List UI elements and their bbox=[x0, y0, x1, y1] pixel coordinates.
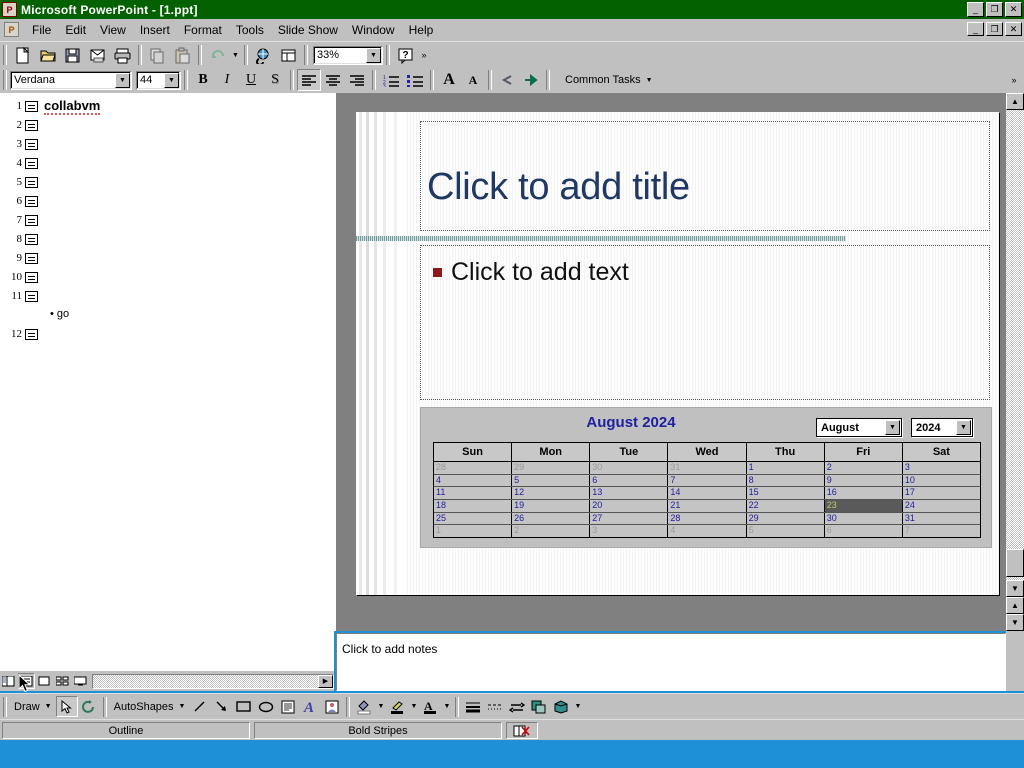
close-button[interactable]: ✕ bbox=[1005, 2, 1022, 17]
outline-slide-number: 8 bbox=[2, 233, 22, 245]
toolbar-separator bbox=[488, 70, 492, 90]
print-icon[interactable] bbox=[111, 44, 134, 66]
calendar-week-row: 18192021222324 bbox=[434, 500, 980, 513]
calendar-selected-day-cell[interactable]: 23 bbox=[825, 500, 903, 512]
previous-slide-button[interactable]: ▲ bbox=[1006, 597, 1024, 614]
toolbar-grip bbox=[3, 70, 7, 90]
title-underline-rule bbox=[356, 236, 846, 241]
application-title-bar: P Microsoft PowerPoint - [1.ppt] _ ❐ ✕ bbox=[0, 0, 1024, 19]
shadow-icon[interactable] bbox=[528, 696, 550, 717]
svg-text:A: A bbox=[424, 699, 433, 713]
document-icon[interactable]: P bbox=[4, 22, 19, 37]
window-controls: _ ❐ ✕ bbox=[967, 2, 1022, 17]
calendar-day-cell[interactable]: 1 bbox=[434, 525, 512, 537]
calendar-grid[interactable]: SunMonTueWedThuFriSat 282930311234567891… bbox=[433, 442, 981, 538]
title-placeholder[interactable]: Click to add title bbox=[420, 121, 990, 231]
outline-bullet-glyph: • bbox=[50, 308, 57, 320]
menu-edit[interactable]: Edit bbox=[58, 21, 93, 39]
svg-text:?: ? bbox=[402, 50, 408, 61]
calendar-day-cell[interactable]: 6 bbox=[825, 525, 903, 537]
calendar-day-cell[interactable]: 25 bbox=[434, 513, 512, 525]
outline-bullet-text: go bbox=[57, 308, 69, 320]
calendar-day-cell[interactable]: 7 bbox=[903, 525, 980, 537]
slide-thumbnail-icon[interactable] bbox=[25, 329, 38, 340]
insert-table-icon[interactable] bbox=[277, 44, 300, 66]
calendar-day-cell[interactable]: 13 bbox=[590, 487, 668, 499]
outline-slide-number: 10 bbox=[2, 271, 22, 283]
italic-button[interactable]: I bbox=[215, 69, 239, 91]
calendar-day-cell[interactable]: 2 bbox=[825, 462, 903, 474]
outline-horizontal-scrollbar[interactable]: ▶ bbox=[92, 674, 334, 689]
text-box-icon[interactable] bbox=[277, 696, 299, 717]
scroll-down-button[interactable]: ▼ bbox=[1006, 580, 1024, 597]
outline-slide-row[interactable]: 11 bbox=[2, 288, 38, 304]
outline-slide-row[interactable]: 2 bbox=[2, 117, 38, 133]
title-placeholder-text: Click to add title bbox=[427, 166, 690, 209]
slide-pane[interactable]: Click to add title Click to add text Aug… bbox=[334, 93, 1008, 631]
font-color-dropdown-icon[interactable]: ▼ bbox=[441, 696, 452, 718]
calendar-weekday-header: SunMonTueWedThuFriSat bbox=[434, 443, 980, 462]
desktop-background bbox=[0, 740, 1024, 768]
calendar-day-cell[interactable]: 2 bbox=[512, 525, 590, 537]
toolbar-separator bbox=[138, 45, 142, 65]
calendar-day-cell[interactable]: 9 bbox=[825, 475, 903, 487]
insert-hyperlink-icon[interactable] bbox=[252, 44, 275, 66]
maximize-button[interactable]: ❐ bbox=[986, 2, 1003, 17]
toolbar-separator bbox=[304, 45, 308, 65]
spelling-status-icon[interactable] bbox=[506, 722, 538, 739]
calendar-month-value: August bbox=[821, 422, 859, 434]
slide-thumbnail-icon[interactable] bbox=[25, 215, 38, 226]
scrollbar-thumb[interactable] bbox=[1006, 549, 1024, 577]
calendar-day-cell[interactable]: 28 bbox=[434, 462, 512, 474]
calendar-day-cell[interactable]: 31 bbox=[903, 513, 980, 525]
toolbar-separator bbox=[184, 70, 188, 90]
shadow-button[interactable]: S bbox=[263, 69, 287, 91]
calendar-day-cell[interactable]: 26 bbox=[512, 513, 590, 525]
zoom-value: 33% bbox=[317, 49, 339, 61]
align-center-icon[interactable] bbox=[321, 69, 345, 91]
drawing-toolbar: Draw ▼ AutoShapes ▼ A bbox=[0, 693, 1024, 719]
calendar-year-value: 2024 bbox=[916, 422, 940, 434]
document-close-button[interactable]: ✕ bbox=[1005, 22, 1022, 36]
font-color-icon[interactable]: A bbox=[419, 696, 441, 717]
calendar-week-row: 1234567 bbox=[434, 525, 980, 537]
font-size-dropdown-icon[interactable]: ▼ bbox=[164, 73, 179, 88]
slide-thumbnail-icon[interactable] bbox=[25, 120, 38, 131]
toolbar-grip bbox=[3, 45, 7, 65]
calendar-week-row: 28293031123 bbox=[434, 462, 980, 475]
outline-slide-row[interactable]: 1collabvm bbox=[2, 98, 100, 114]
calendar-day-cell[interactable]: 15 bbox=[747, 487, 825, 499]
calendar-day-cell[interactable]: 7 bbox=[668, 475, 746, 487]
calendar-day-cell[interactable]: 5 bbox=[747, 525, 825, 537]
outline-slide-row[interactable]: 3 bbox=[2, 136, 38, 152]
outline-slide-row[interactable]: 5 bbox=[2, 174, 38, 190]
autoshapes-button[interactable]: AutoShapes ▼ bbox=[110, 701, 190, 713]
calendar-weekday-cell: Tue bbox=[590, 443, 668, 461]
slide-show-button[interactable] bbox=[72, 673, 89, 689]
slide-thumbnail-icon[interactable] bbox=[25, 177, 38, 188]
mouse-cursor bbox=[18, 674, 32, 694]
outline-slide-number: 4 bbox=[2, 157, 22, 169]
undo-dropdown-icon[interactable]: ▼ bbox=[230, 44, 241, 66]
normal-view-button[interactable] bbox=[0, 673, 17, 689]
calendar-weekday-cell: Fri bbox=[825, 443, 903, 461]
copy-icon[interactable] bbox=[146, 44, 169, 66]
numbered-list-icon[interactable]: 123 bbox=[379, 69, 403, 91]
menu-bar: P File Edit View Insert Format Tools Sli… bbox=[0, 19, 1024, 41]
window-title: Microsoft PowerPoint - [1.ppt] bbox=[21, 3, 198, 17]
help-icon[interactable]: ? bbox=[394, 44, 417, 66]
outline-slide-number: 5 bbox=[2, 176, 22, 188]
calendar-week-row: 11121314151617 bbox=[434, 487, 980, 500]
outline-slide-number: 12 bbox=[2, 328, 22, 340]
draw-button[interactable]: Draw ▼ bbox=[10, 701, 56, 713]
calendar-day-cell[interactable]: 30 bbox=[825, 513, 903, 525]
calendar-weekday-cell: Wed bbox=[668, 443, 746, 461]
toolbar-separator bbox=[546, 70, 550, 90]
calendar-day-cell[interactable]: 27 bbox=[590, 513, 668, 525]
undo-icon[interactable] bbox=[206, 44, 229, 66]
calendar-weekday-cell: Sun bbox=[434, 443, 512, 461]
calendar-day-cell[interactable]: 18 bbox=[434, 500, 512, 512]
calendar-day-cell[interactable]: 21 bbox=[668, 500, 746, 512]
calendar-weekday-cell: Thu bbox=[747, 443, 825, 461]
powerpoint-icon: P bbox=[2, 2, 17, 17]
menu-insert[interactable]: Insert bbox=[133, 21, 177, 39]
calendar-day-cell[interactable]: 11 bbox=[434, 487, 512, 499]
line-color-dropdown-icon[interactable]: ▼ bbox=[408, 696, 419, 718]
line-icon[interactable] bbox=[189, 696, 211, 717]
calendar-day-cell[interactable]: 29 bbox=[512, 462, 590, 474]
outline-slide-number: 7 bbox=[2, 214, 22, 226]
slide-thumbnail-icon[interactable] bbox=[25, 196, 38, 207]
outline-slide-row[interactable]: 4 bbox=[2, 155, 38, 171]
outline-slide-number: 6 bbox=[2, 195, 22, 207]
overflow-glyph: » bbox=[421, 52, 426, 59]
calendar-year-dropdown-icon[interactable]: ▼ bbox=[956, 420, 971, 435]
body-placeholder-text: Click to add text bbox=[451, 258, 629, 287]
calendar-day-cell[interactable]: 29 bbox=[747, 513, 825, 525]
outline-pane-bottom-bar: ▶ bbox=[0, 671, 334, 691]
common-tasks-button[interactable]: Common Tasks ▼ bbox=[561, 72, 657, 88]
menu-file[interactable]: File bbox=[25, 21, 58, 39]
notes-placeholder-text: Click to add notes bbox=[342, 642, 437, 656]
common-tasks-dropdown-icon[interactable]: ▼ bbox=[646, 77, 653, 84]
bulleted-list-icon[interactable] bbox=[403, 69, 427, 91]
toolbar-separator bbox=[346, 697, 350, 717]
paste-icon[interactable] bbox=[171, 44, 194, 66]
toolbar-separator bbox=[244, 45, 248, 65]
slide-thumbnail-icon[interactable] bbox=[25, 139, 38, 150]
slide-thumbnail-icon[interactable] bbox=[25, 101, 38, 112]
menu-tools[interactable]: Tools bbox=[229, 21, 271, 39]
svg-text:3: 3 bbox=[383, 84, 386, 87]
oval-icon[interactable] bbox=[255, 696, 277, 717]
calendar-day-cell[interactable]: 22 bbox=[747, 500, 825, 512]
save-icon[interactable] bbox=[61, 44, 84, 66]
outline-slide-row[interactable]: 8 bbox=[2, 231, 38, 247]
calendar-weekday-cell: Mon bbox=[512, 443, 590, 461]
calendar-day-cell[interactable]: 30 bbox=[590, 462, 668, 474]
calendar-year-combo[interactable]: 2024 ▼ bbox=[911, 418, 973, 437]
line-color-icon[interactable] bbox=[386, 696, 408, 717]
slide-thumbnail-icon[interactable] bbox=[25, 291, 38, 302]
outline-slide-number: 1 bbox=[2, 100, 22, 112]
slide-view-button[interactable] bbox=[36, 673, 53, 689]
body-placeholder[interactable]: Click to add text bbox=[420, 245, 990, 400]
zoom-dropdown-icon[interactable]: ▼ bbox=[366, 48, 381, 63]
calendar-day-cell[interactable]: 5 bbox=[512, 475, 590, 487]
calendar-day-cell[interactable]: 1 bbox=[747, 462, 825, 474]
calendar-week-row: 45678910 bbox=[434, 475, 980, 488]
toolbar-separator bbox=[386, 45, 390, 65]
new-icon[interactable] bbox=[11, 44, 34, 66]
select-arrow-icon[interactable] bbox=[56, 696, 78, 717]
calendar-day-cell[interactable]: 31 bbox=[668, 462, 746, 474]
outline-slide-row[interactable]: 10 bbox=[2, 269, 38, 285]
formatting-toolbar-overflow-icon[interactable]: » bbox=[1008, 69, 1020, 91]
notes-scroll-area[interactable] bbox=[1006, 631, 1024, 691]
calendar-day-cell[interactable]: 8 bbox=[747, 475, 825, 487]
3d-icon[interactable] bbox=[550, 696, 572, 717]
next-slide-button[interactable]: ▼ bbox=[1006, 614, 1024, 631]
autoshapes-label: AutoShapes bbox=[114, 701, 174, 713]
outline-slide-number: 3 bbox=[2, 138, 22, 150]
scroll-up-button[interactable]: ▲ bbox=[1006, 93, 1024, 110]
calendar-week-row: 25262728293031 bbox=[434, 513, 980, 526]
slide-vertical-scrollbar[interactable]: ▲ ▼ ▲ ▼ bbox=[1006, 93, 1024, 631]
menu-slide-show[interactable]: Slide Show bbox=[271, 21, 345, 39]
calendar-day-cell[interactable]: 6 bbox=[590, 475, 668, 487]
powerpoint-window: P Microsoft PowerPoint - [1.ppt] _ ❐ ✕ P… bbox=[0, 0, 1024, 768]
font-name-value: Verdana bbox=[14, 74, 55, 86]
wordart-icon[interactable]: A bbox=[299, 696, 321, 717]
demote-icon[interactable] bbox=[519, 69, 543, 91]
calendar-day-cell[interactable]: 17 bbox=[903, 487, 980, 499]
menu-window[interactable]: Window bbox=[345, 21, 402, 39]
calendar-day-cell[interactable]: 12 bbox=[512, 487, 590, 499]
fill-color-icon[interactable] bbox=[353, 696, 375, 717]
calendar-day-cell[interactable]: 4 bbox=[434, 475, 512, 487]
draw-label: Draw bbox=[14, 701, 40, 713]
toolbar-separator bbox=[103, 697, 107, 717]
calendar-control[interactable]: August 2024 August ▼ 2024 ▼ SunMonTueWed… bbox=[420, 407, 992, 548]
calendar-day-cell[interactable]: 16 bbox=[825, 487, 903, 499]
align-left-icon[interactable] bbox=[297, 69, 321, 91]
email-icon[interactable] bbox=[86, 44, 109, 66]
calendar-month-dropdown-icon[interactable]: ▼ bbox=[885, 420, 900, 435]
align-right-icon[interactable] bbox=[345, 69, 369, 91]
toolbar-separator bbox=[372, 70, 376, 90]
calendar-day-cell[interactable]: 20 bbox=[590, 500, 668, 512]
calendar-day-cell[interactable]: 14 bbox=[668, 487, 746, 499]
toolbar-grip bbox=[3, 697, 7, 717]
menu-help[interactable]: Help bbox=[402, 21, 441, 39]
status-bar: Outline Bold Stripes bbox=[0, 719, 1024, 741]
outline-slide-number: 11 bbox=[2, 290, 22, 302]
open-icon[interactable] bbox=[36, 44, 59, 66]
dash-style-icon[interactable] bbox=[484, 696, 506, 717]
standard-toolbar-overflow-icon[interactable]: » bbox=[418, 44, 430, 66]
draw-dropdown-icon[interactable]: ▼ bbox=[45, 703, 52, 710]
toolbar-separator bbox=[198, 45, 202, 65]
outline-bullet-item[interactable]: • go bbox=[50, 308, 69, 320]
outline-slide-row[interactable]: 6 bbox=[2, 193, 38, 209]
document-window-controls: _ ❐ ✕ bbox=[967, 22, 1022, 36]
autoshapes-dropdown-icon[interactable]: ▼ bbox=[179, 703, 186, 710]
rectangle-icon[interactable] bbox=[233, 696, 255, 717]
slide-canvas[interactable]: Click to add title Click to add text Aug… bbox=[356, 112, 999, 595]
body-bullet-icon bbox=[433, 268, 442, 277]
calendar-day-cell[interactable]: 28 bbox=[668, 513, 746, 525]
outline-slide-number: 9 bbox=[2, 252, 22, 264]
document-restore-button[interactable]: ❐ bbox=[986, 22, 1003, 36]
outline-slide-row[interactable]: 9 bbox=[2, 250, 38, 266]
font-name-dropdown-icon[interactable]: ▼ bbox=[115, 73, 130, 88]
fill-color-dropdown-icon[interactable]: ▼ bbox=[375, 696, 386, 718]
toolbar-separator bbox=[430, 70, 434, 90]
increase-font-size-button[interactable]: A bbox=[437, 69, 461, 91]
decrease-font-size-button[interactable]: A bbox=[461, 69, 485, 91]
svg-text:A: A bbox=[303, 700, 314, 714]
calendar-day-cell[interactable]: 3 bbox=[590, 525, 668, 537]
slide-design-stripes bbox=[356, 112, 406, 595]
promote-icon[interactable] bbox=[495, 69, 519, 91]
slide-thumbnail-icon[interactable] bbox=[25, 234, 38, 245]
font-name-combo[interactable]: Verdana ▼ bbox=[10, 71, 132, 90]
menu-format[interactable]: Format bbox=[177, 21, 229, 39]
outline-slide-title[interactable]: collabvm bbox=[44, 98, 100, 115]
status-design-label: Bold Stripes bbox=[254, 722, 502, 739]
standard-toolbar: ▼ 33% ▼ ? » bbox=[0, 41, 1024, 68]
menu-view[interactable]: View bbox=[93, 21, 133, 39]
slide-sorter-view-button[interactable] bbox=[54, 673, 71, 689]
calendar-day-cell[interactable]: 3 bbox=[903, 462, 980, 474]
arrow-style-icon[interactable] bbox=[506, 696, 528, 717]
common-tasks-label: Common Tasks bbox=[565, 74, 641, 86]
font-size-combo[interactable]: 44 ▼ bbox=[136, 71, 181, 90]
outline-pane[interactable]: 1collabvm23456789101112• go bbox=[0, 93, 334, 671]
arrow-icon[interactable] bbox=[211, 696, 233, 717]
calendar-day-cell[interactable]: 4 bbox=[668, 525, 746, 537]
slide-thumbnail-icon[interactable] bbox=[25, 158, 38, 169]
font-size-value: 44 bbox=[140, 74, 152, 86]
free-rotate-icon[interactable] bbox=[78, 696, 100, 717]
toolbar-separator bbox=[290, 70, 294, 90]
formatting-toolbar: Verdana ▼ 44 ▼ B I U S 123 A A bbox=[0, 67, 1024, 93]
calendar-month-combo[interactable]: August ▼ bbox=[816, 418, 902, 437]
document-minimize-button[interactable]: _ bbox=[967, 22, 984, 36]
underline-button[interactable]: U bbox=[239, 69, 263, 91]
toolbar-separator bbox=[455, 697, 459, 717]
line-style-icon[interactable] bbox=[462, 696, 484, 717]
slide-thumbnail-icon[interactable] bbox=[25, 253, 38, 264]
slide-thumbnail-icon[interactable] bbox=[25, 272, 38, 283]
minimize-button[interactable]: _ bbox=[967, 2, 984, 17]
calendar-heading: August 2024 bbox=[421, 414, 841, 431]
calendar-day-cell[interactable]: 10 bbox=[903, 475, 980, 487]
notes-pane[interactable]: Click to add notes bbox=[336, 633, 1006, 691]
outline-slide-number: 2 bbox=[2, 119, 22, 131]
zoom-combo[interactable]: 33% ▼ bbox=[313, 46, 383, 65]
3d-dropdown-icon[interactable]: ▼ bbox=[572, 696, 583, 718]
calendar-weekday-cell: Sat bbox=[903, 443, 980, 461]
scroll-right-icon[interactable]: ▶ bbox=[318, 675, 333, 688]
calendar-day-cell[interactable]: 19 bbox=[512, 500, 590, 512]
clipart-icon[interactable] bbox=[321, 696, 343, 717]
outline-slide-row[interactable]: 12 bbox=[2, 326, 38, 342]
overflow-glyph: » bbox=[1011, 77, 1016, 84]
outline-slide-row[interactable]: 7 bbox=[2, 212, 38, 228]
status-view-label: Outline bbox=[2, 722, 250, 739]
bold-button[interactable]: B bbox=[191, 69, 215, 91]
calendar-day-cell[interactable]: 24 bbox=[903, 500, 980, 512]
